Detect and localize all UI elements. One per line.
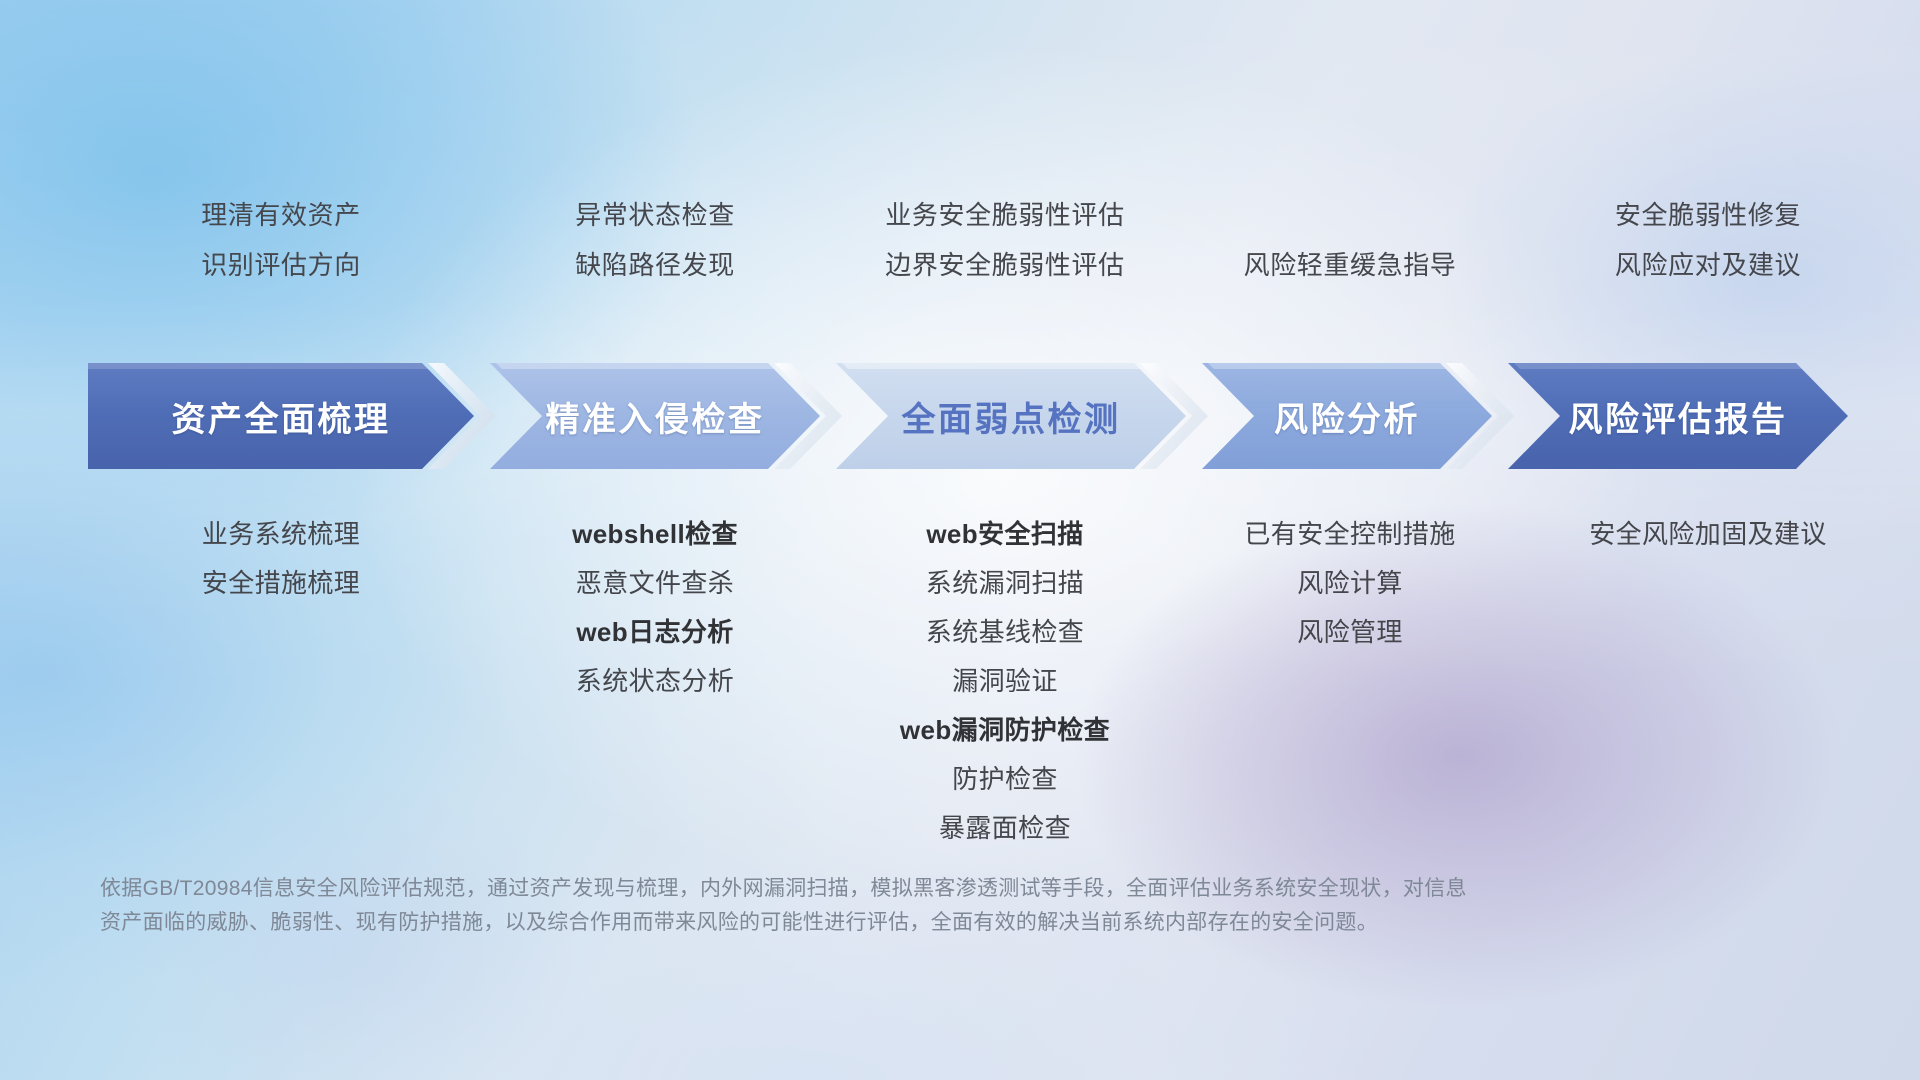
stage-input-item: 风险轻重缓急指导 (1185, 240, 1515, 290)
stage-activity-item: 已有安全控制措施 (1185, 510, 1515, 559)
stage-activity-item: 安全风险加固及建议 (1528, 510, 1888, 559)
stage-input-item: 识别评估方向 (88, 240, 474, 290)
stage-input-item: 业务安全脆弱性评估 (812, 190, 1198, 240)
stage-inputs-1: 理清有效资产 识别评估方向 (88, 190, 474, 290)
stage-activities-5: 安全风险加固及建议 (1528, 510, 1888, 559)
slide-canvas: 理清有效资产 识别评估方向 业务系统梳理 安全措施梳理 异常状态检查 缺陷路径发… (0, 0, 1920, 1080)
stage-activity-item: webshell检查 (490, 510, 820, 559)
stage-activity-item: 风险计算 (1185, 559, 1515, 608)
stage-activity-item: web日志分析 (490, 608, 820, 657)
stage-activity-item: 系统状态分析 (490, 657, 820, 706)
stage-activity-item: 风险管理 (1185, 608, 1515, 657)
stage-inputs-2: 异常状态检查 缺陷路径发现 (490, 190, 820, 290)
stage-inputs-4: 风险轻重缓急指导 (1185, 190, 1515, 290)
stage-activity-item: 业务系统梳理 (88, 510, 474, 559)
footer-description: 依据GB/T20984信息安全风险评估规范，通过资产发现与梳理，内外网漏洞扫描，… (100, 872, 1660, 940)
stage-inputs-3: 业务安全脆弱性评估 边界安全脆弱性评估 (812, 190, 1198, 290)
stage-input-item: 风险应对及建议 (1528, 240, 1888, 290)
stage-input-item: 异常状态检查 (490, 190, 820, 240)
stage-input-item: 理清有效资产 (88, 190, 474, 240)
stage-activities-4: 已有安全控制措施 风险计算 风险管理 (1185, 510, 1515, 657)
stage-activity-item: 漏洞验证 (812, 657, 1198, 706)
stage-activity-item: 安全措施梳理 (88, 559, 474, 608)
stage-activities-3: web安全扫描 系统漏洞扫描 系统基线检查 漏洞验证 web漏洞防护检查 防护检… (812, 510, 1198, 853)
stage-activity-item: 系统基线检查 (812, 608, 1198, 657)
footer-line-2: 资产面临的威胁、脆弱性、现有防护措施，以及综合作用而带来风险的可能性进行评估，全… (100, 906, 1660, 940)
footer-line-1: 依据GB/T20984信息安全风险评估规范，通过资产发现与梳理，内外网漏洞扫描，… (100, 872, 1660, 906)
stage-activities-1: 业务系统梳理 安全措施梳理 (88, 510, 474, 608)
stage-input-item: 边界安全脆弱性评估 (812, 240, 1198, 290)
stage-activity-item: web漏洞防护检查 (812, 706, 1198, 755)
stage-activity-item: 防护检查 (812, 755, 1198, 804)
stage-activity-item: web安全扫描 (812, 510, 1198, 559)
stage-activity-item: 恶意文件查杀 (490, 559, 820, 608)
stage-input-item: 安全脆弱性修复 (1528, 190, 1888, 240)
stage-activity-item: 系统漏洞扫描 (812, 559, 1198, 608)
stage-activities-2: webshell检查 恶意文件查杀 web日志分析 系统状态分析 (490, 510, 820, 706)
stage-inputs-5: 安全脆弱性修复 风险应对及建议 (1528, 190, 1888, 290)
stage-activity-item: 暴露面检查 (812, 804, 1198, 853)
stage-input-item: 缺陷路径发现 (490, 240, 820, 290)
